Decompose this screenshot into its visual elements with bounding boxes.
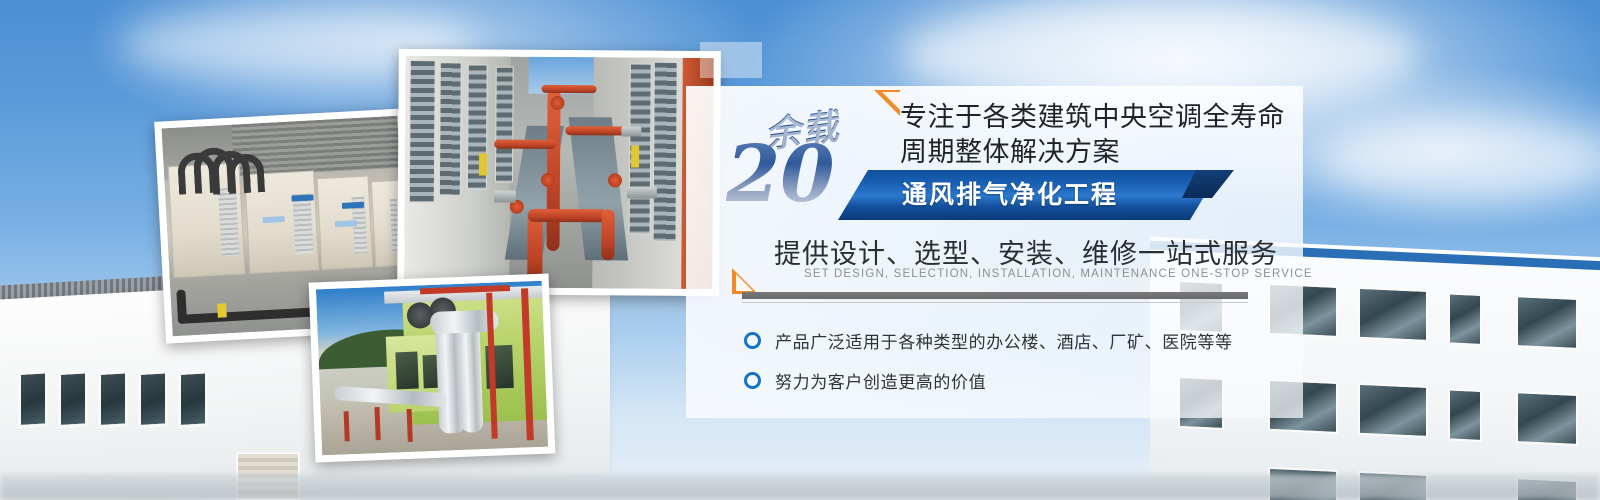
ground-strip xyxy=(0,474,1600,500)
left-building-window xyxy=(138,370,168,428)
service-line-en: SET DESIGN, SELECTION, INSTALLATION, MAI… xyxy=(804,268,1274,280)
service-line-cn: 提供设计、选型、安装、维修一站式服务 xyxy=(774,232,1274,271)
list-item-label: 产品广泛适用于各种类型的办公楼、酒店、厂矿、医院等等 xyxy=(775,328,1233,353)
divider-thin xyxy=(742,302,1248,303)
hero-banner: 余载 20 专注于各类建筑中央空调全寿命周期整体解决方案 通风排气净化工程 提供… xyxy=(0,0,1600,500)
right-building-window xyxy=(1516,295,1578,350)
cloud-3 xyxy=(1320,120,1600,200)
list-item: 努力为客户创造更高的价值 xyxy=(744,360,1284,400)
right-building-window xyxy=(1358,287,1428,342)
circle-bullet-icon xyxy=(744,372,761,389)
left-building-window xyxy=(178,370,208,428)
page-title: 专注于各类建筑中央空调全寿命周期整体解决方案 xyxy=(900,100,1292,170)
right-building-window xyxy=(1448,388,1482,442)
list-item: 产品广泛适用于各种类型的办公楼、酒店、厂矿、医院等等 xyxy=(744,320,1284,360)
left-building-window xyxy=(18,370,48,428)
right-building-window xyxy=(1358,383,1428,438)
right-building-window xyxy=(1448,292,1482,346)
ribbon-label: 通风排气净化工程 xyxy=(902,170,1118,220)
ribbon-banner: 通风排气净化工程 xyxy=(838,170,1258,220)
left-building-window xyxy=(98,370,128,428)
decorative-accent-box xyxy=(700,42,762,78)
left-building-window xyxy=(58,370,88,428)
circle-bullet-icon xyxy=(744,332,761,349)
right-building-window xyxy=(1516,391,1578,446)
years-number: 20 xyxy=(726,136,835,214)
feature-list: 产品广泛适用于各种类型的办公楼、酒店、厂矿、医院等等 努力为客户创造更高的价值 xyxy=(744,320,1284,400)
chevron-accent-icon xyxy=(732,268,758,294)
photo-red-piping[interactable] xyxy=(397,49,721,296)
photo-silver-ducting[interactable] xyxy=(309,273,556,462)
content-panel: 余载 20 专注于各类建筑中央空调全寿命周期整体解决方案 通风排气净化工程 提供… xyxy=(686,86,1303,418)
list-item-label: 努力为客户创造更高的价值 xyxy=(775,368,986,393)
chevron-accent-icon xyxy=(874,90,900,116)
divider xyxy=(742,292,1248,299)
